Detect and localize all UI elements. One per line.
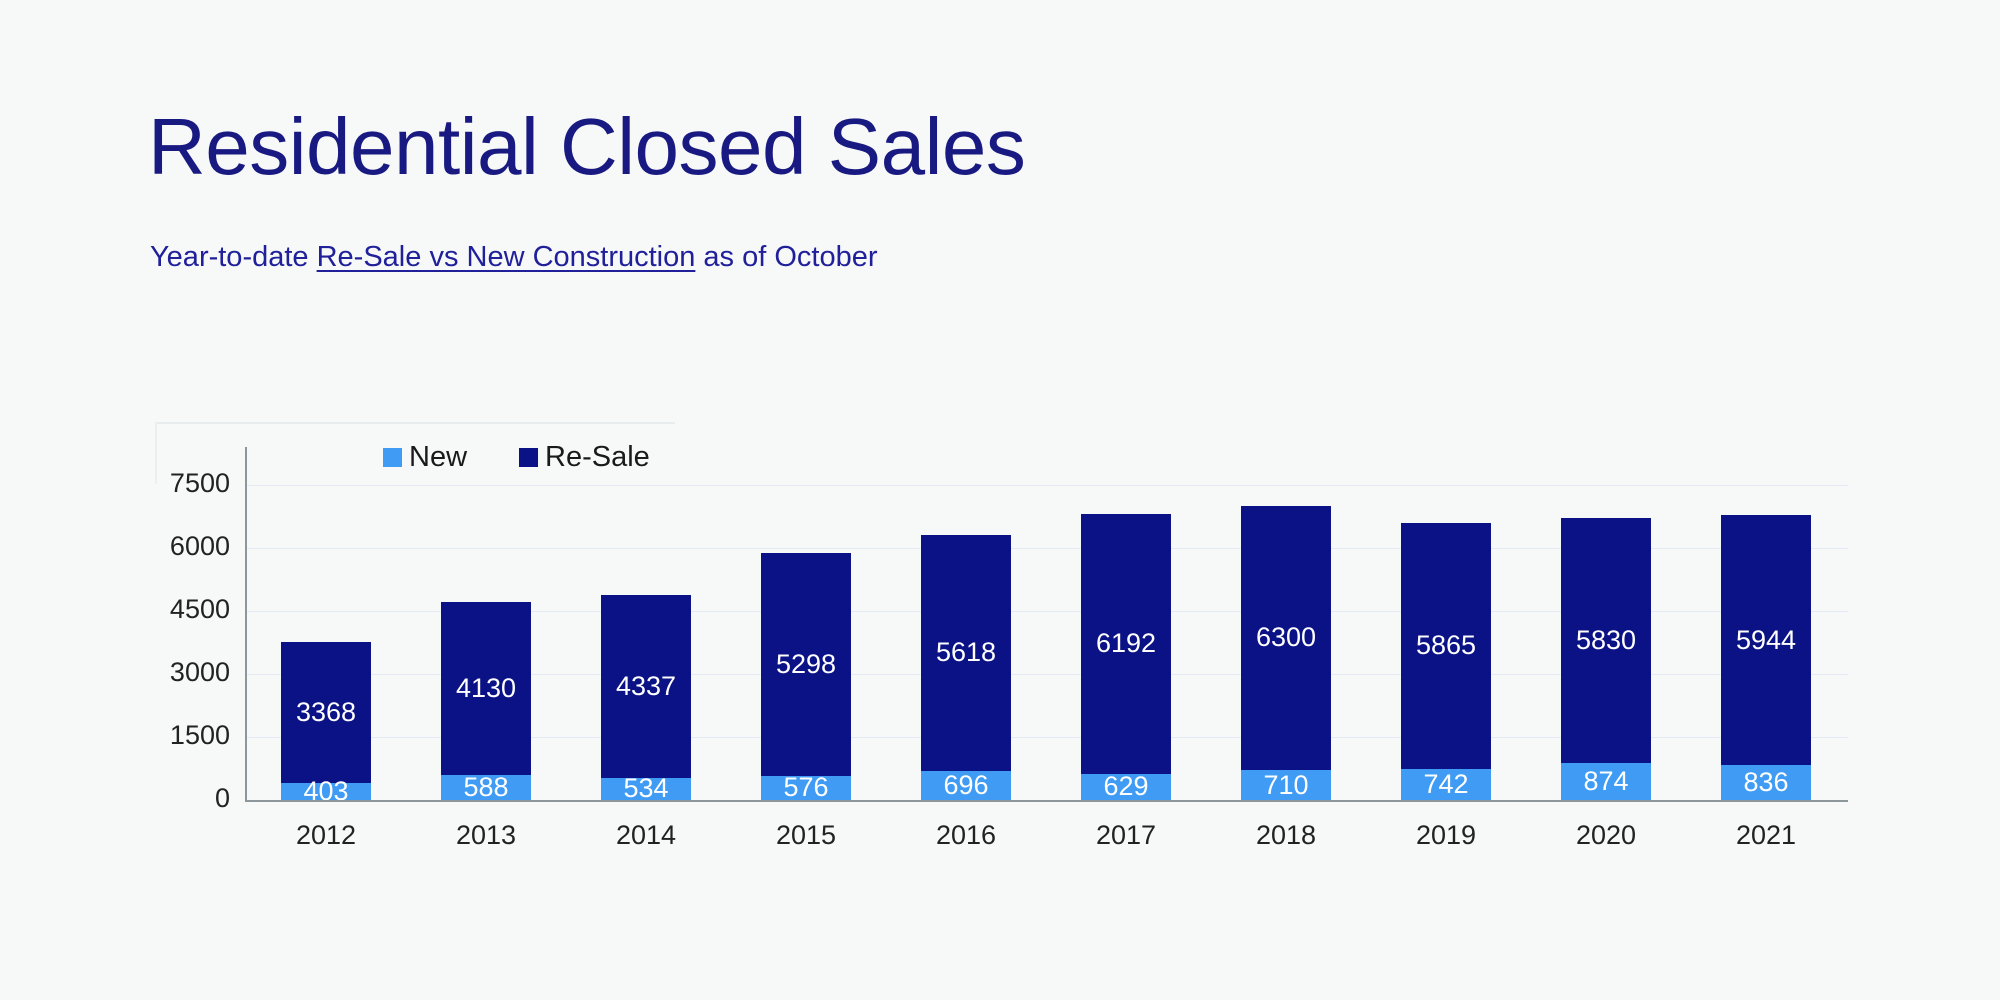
legend-swatch-resale-icon	[519, 448, 538, 467]
legend-swatch-new-icon	[383, 448, 402, 467]
bar-group[interactable]: 6300710	[1241, 506, 1331, 800]
bar-segment-new[interactable]: 696	[921, 771, 1011, 800]
x-axis-tick-label: 2012	[246, 820, 406, 851]
bar-segment-resale[interactable]: 5298	[761, 553, 851, 776]
bar-value-label-resale: 3368	[296, 699, 356, 726]
bar-segment-resale[interactable]: 5830	[1561, 518, 1651, 763]
subtitle-suffix: as of October	[695, 241, 877, 273]
bar-value-label-new: 742	[1423, 771, 1468, 798]
bar-segment-resale[interactable]: 5944	[1721, 515, 1811, 765]
bar-value-label-resale: 5618	[936, 639, 996, 666]
y-axis-tick-label: 7500	[120, 468, 230, 499]
y-axis-tick-label: 1500	[120, 720, 230, 751]
bar-segment-resale[interactable]: 4337	[601, 595, 691, 777]
bar-value-label-new: 696	[943, 772, 988, 799]
chart-legend: New Re-Sale	[383, 443, 650, 472]
bar-segment-new[interactable]: 403	[281, 783, 371, 800]
legend-item-new[interactable]: New	[383, 443, 467, 472]
bar-value-label-resale: 5830	[1576, 627, 1636, 654]
x-axis-tick-label: 2015	[726, 820, 886, 851]
bar-group[interactable]: 3368403	[281, 642, 371, 800]
x-axis-tick-label: 2020	[1526, 820, 1686, 851]
bar-segment-new[interactable]: 874	[1561, 763, 1651, 800]
x-axis-tick-label: 2021	[1686, 820, 1846, 851]
bar-value-label-new: 534	[623, 775, 668, 802]
bar-value-label-new: 629	[1103, 773, 1148, 800]
subtitle-emphasis: Re-Sale vs New Construction	[317, 241, 696, 273]
page-title: Residential Closed Sales	[148, 103, 1025, 191]
bar-segment-resale[interactable]: 4130	[441, 602, 531, 775]
chart-y-axis-labels: 015003000450060007500	[110, 0, 230, 1000]
bar-value-label-new: 576	[783, 774, 828, 801]
legend-label-new: New	[409, 443, 467, 472]
legend-item-resale[interactable]: Re-Sale	[519, 443, 650, 472]
bar-group[interactable]: 4337534	[601, 595, 691, 800]
bar-value-label-new: 874	[1583, 768, 1628, 795]
bar-value-label-new: 710	[1263, 772, 1308, 799]
x-axis-line	[245, 800, 1848, 802]
bar-group[interactable]: 5618696	[921, 535, 1011, 800]
bar-segment-resale[interactable]: 3368	[281, 642, 371, 783]
bar-value-label-resale: 5865	[1416, 632, 1476, 659]
bar-segment-new[interactable]: 534	[601, 778, 691, 800]
bar-segment-resale[interactable]: 6192	[1081, 514, 1171, 774]
bar-segment-new[interactable]: 629	[1081, 774, 1171, 800]
y-axis-tick-label: 3000	[120, 657, 230, 688]
bar-value-label-new: 588	[463, 774, 508, 801]
x-axis-tick-label: 2017	[1046, 820, 1206, 851]
x-axis-tick-label: 2016	[886, 820, 1046, 851]
bar-segment-resale[interactable]: 5618	[921, 535, 1011, 771]
bar-value-label-resale: 6300	[1256, 624, 1316, 651]
bar-segment-new[interactable]: 710	[1241, 770, 1331, 800]
bar-group[interactable]: 5830874	[1561, 518, 1651, 800]
x-axis-tick-label: 2018	[1206, 820, 1366, 851]
bar-group[interactable]: 6192629	[1081, 514, 1171, 800]
y-axis-line	[245, 447, 247, 800]
slide-canvas: Residential Closed Sales Year-to-date Re…	[0, 0, 2000, 1000]
bar-segment-new[interactable]: 576	[761, 776, 851, 800]
bar-segment-new[interactable]: 588	[441, 775, 531, 800]
bar-group[interactable]: 4130588	[441, 602, 531, 800]
y-axis-tick-label: 4500	[120, 594, 230, 625]
bar-segment-resale[interactable]: 6300	[1241, 506, 1331, 771]
y-axis-tick-label: 6000	[120, 531, 230, 562]
page-subtitle: Year-to-date Re-Sale vs New Construction…	[150, 240, 878, 274]
legend-label-resale: Re-Sale	[545, 443, 650, 472]
y-axis-tick-label: 0	[120, 783, 230, 814]
bar-group[interactable]: 5298576	[761, 553, 851, 800]
x-axis-tick-label: 2019	[1366, 820, 1526, 851]
bar-value-label-resale: 4130	[456, 675, 516, 702]
bar-segment-new[interactable]: 836	[1721, 765, 1811, 800]
bar-segment-resale[interactable]: 5865	[1401, 523, 1491, 769]
x-axis-tick-label: 2014	[566, 820, 726, 851]
x-axis-tick-label: 2013	[406, 820, 566, 851]
bar-value-label-resale: 5944	[1736, 627, 1796, 654]
bar-group[interactable]: 5865742	[1401, 523, 1491, 800]
bar-value-label-resale: 5298	[776, 651, 836, 678]
gridline	[245, 485, 1848, 486]
bar-value-label-new: 836	[1743, 769, 1788, 796]
chart-frame-top-edge	[155, 422, 675, 424]
bar-group[interactable]: 5944836	[1721, 515, 1811, 800]
bar-value-label-resale: 4337	[616, 673, 676, 700]
bar-segment-new[interactable]: 742	[1401, 769, 1491, 800]
bar-value-label-resale: 6192	[1096, 630, 1156, 657]
